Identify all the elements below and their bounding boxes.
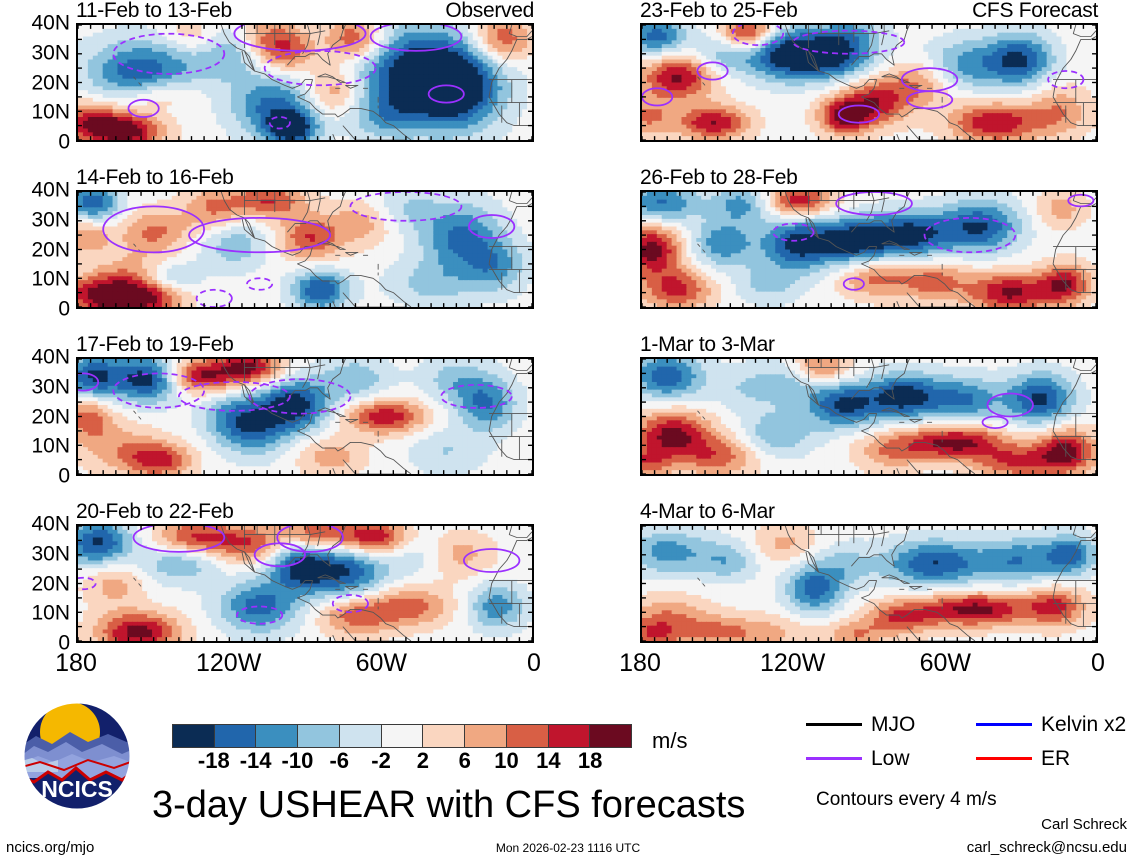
map-field-obs-1 [78,25,532,140]
x-tick-0: 0 [527,651,541,676]
shading-obs-4 [78,526,532,641]
legend-swatch-line [976,757,1032,760]
colorbar-tick--18: -18 [198,750,230,772]
map-obs-1[interactable] [76,23,534,142]
panel-title-obs-4: 20-Feb to 22-Feb [76,501,233,522]
x-tick-120W: 120W [760,651,825,676]
panel-title-fcst-3: 1-Mar to 3-Mar [640,334,775,355]
credit-email[interactable]: carl_schreck@ncsu.edu [967,840,1127,855]
colorbar-swatch-2 [256,725,298,747]
y-tick-40N: 40N [31,180,70,201]
y-tick-20N: 20N [31,406,70,427]
ncics-logo: NCICS [18,702,136,810]
legend-swatch-line [976,723,1032,726]
panel-fcst-1: 23-Feb to 25-FebCFS Forecast [640,23,1098,142]
legend-entry-er: ER [976,748,1070,769]
colorbar-swatches [172,724,632,748]
colorbar-tick-18: 18 [578,750,602,772]
y-tick-0: 0 [58,299,70,320]
legend-label: Kelvin x2 [1041,714,1126,735]
colorbar-tick-14: 14 [536,750,560,772]
y-tick-10N: 10N [31,102,70,123]
y-tick-20N: 20N [31,72,70,93]
shading-fcst-4 [642,526,1096,641]
y-tick-30N: 30N [31,376,70,397]
colorbar-swatch-6 [423,725,465,747]
colorbar-swatch-1 [215,725,257,747]
y-tick-30N: 30N [31,209,70,230]
legend-entry-low: Low [806,748,910,769]
map-fcst-3[interactable] [640,357,1098,476]
legend-entry-mjo: MJO [806,714,915,735]
map-field-obs-4 [78,526,532,641]
panel-obs-3: 17-Feb to 19-Feb40N30N20N10N0 [76,357,534,476]
colorbar-tick-10: 10 [494,750,518,772]
map-field-fcst-1 [642,25,1096,140]
map-obs-2[interactable] [76,190,534,309]
y-tick-0: 0 [58,466,70,487]
map-fcst-1[interactable] [640,23,1098,142]
panel-title-obs-2: 14-Feb to 16-Feb [76,167,233,188]
map-field-fcst-3 [642,359,1096,474]
legend-swatch-line [806,723,862,726]
map-obs-3[interactable] [76,357,534,476]
colorbar-tick--6: -6 [329,750,349,772]
colorbar-swatch-10 [590,725,631,747]
colorbar-tick-6: 6 [459,750,471,772]
colorbar-swatch-9 [549,725,591,747]
colorbar-tick-labels: -18-14-10-6-226101418 [172,748,632,774]
colorbar-tick--10: -10 [282,750,314,772]
y-tick-10N: 10N [31,269,70,290]
x-tick-60W: 60W [356,651,407,676]
y-tick-20N: 20N [31,239,70,260]
panel-obs-2: 14-Feb to 16-Feb40N30N20N10N0 [76,190,534,309]
map-field-obs-2 [78,192,532,307]
y-tick-40N: 40N [31,347,70,368]
y-tick-10N: 10N [31,603,70,624]
figure-root: 11-Feb to 13-FebObserved40N30N20N10N0 14… [0,0,1135,859]
colorbar-swatch-8 [507,725,549,747]
logo-wordmark: NCICS [41,776,113,802]
map-fcst-2[interactable] [640,190,1098,309]
colorbar: -18-14-10-6-226101418 [172,724,632,774]
colorbar-tick--2: -2 [371,750,391,772]
y-tick-0: 0 [58,132,70,153]
shading-fcst-3 [642,359,1096,474]
colorbar-unit-label: m/s [652,730,687,752]
map-fcst-4[interactable] [640,524,1098,643]
shading-obs-2 [78,192,532,307]
footer-timestamp: Mon 2026-02-23 1116 UTC [496,842,640,854]
y-tick-10N: 10N [31,436,70,457]
x-tick-0: 0 [1091,651,1105,676]
colorbar-tick-2: 2 [417,750,429,772]
colorbar-swatch-0 [173,725,215,747]
footer-site-link[interactable]: ncics.org/mjo [6,840,94,855]
panel-title-obs-1: 11-Feb to 13-Feb [76,0,232,21]
x-tick-180: 180 [619,651,661,676]
panel-title-fcst-4: 4-Mar to 6-Mar [640,501,775,522]
legend-label: MJO [871,714,915,735]
y-tick-30N: 30N [31,543,70,564]
legend-label: ER [1041,748,1070,769]
panel-obs-4: 20-Feb to 22-Feb40N30N20N10N0180120W60W0 [76,524,534,643]
shading-obs-3 [78,359,532,474]
map-field-obs-3 [78,359,532,474]
column-header-right: CFS Forecast [972,0,1098,21]
legend-swatch-line [806,757,862,760]
page-title: 3-day USHEAR with CFS forecasts [152,786,745,824]
legend-entry-kelvin-x2: Kelvin x2 [976,714,1126,735]
x-tick-180: 180 [55,651,97,676]
credit-name: Carl Schreck [1041,817,1127,832]
contour-legend: MJOKelvin x2LowER [806,714,1126,780]
y-tick-40N: 40N [31,514,70,535]
panel-title-fcst-2: 26-Feb to 28-Feb [640,167,797,188]
panel-fcst-4: 4-Mar to 6-Mar180120W60W0 [640,524,1098,643]
column-header-left: Observed [445,0,534,21]
contour-interval-note: Contours every 4 m/s [816,790,997,809]
colorbar-swatch-7 [465,725,507,747]
map-field-fcst-4 [642,526,1096,641]
y-tick-40N: 40N [31,13,70,34]
panel-obs-1: 11-Feb to 13-FebObserved40N30N20N10N0 [76,23,534,142]
shading-fcst-2 [642,192,1096,307]
colorbar-swatch-3 [298,725,340,747]
colorbar-swatch-5 [382,725,424,747]
legend-label: Low [871,748,910,769]
shading-obs-1 [78,25,532,140]
panel-fcst-3: 1-Mar to 3-Mar [640,357,1098,476]
colorbar-tick--14: -14 [240,750,272,772]
map-field-fcst-2 [642,192,1096,307]
y-tick-30N: 30N [31,42,70,63]
colorbar-swatch-4 [340,725,382,747]
shading-fcst-1 [642,25,1096,140]
x-tick-60W: 60W [920,651,971,676]
x-tick-120W: 120W [196,651,261,676]
panel-fcst-2: 26-Feb to 28-Feb [640,190,1098,309]
map-obs-4[interactable] [76,524,534,643]
panel-title-obs-3: 17-Feb to 19-Feb [76,334,233,355]
ncics-logo-graphic: NCICS [18,702,136,810]
panel-title-fcst-1: 23-Feb to 25-Feb [640,0,797,21]
y-tick-20N: 20N [31,573,70,594]
